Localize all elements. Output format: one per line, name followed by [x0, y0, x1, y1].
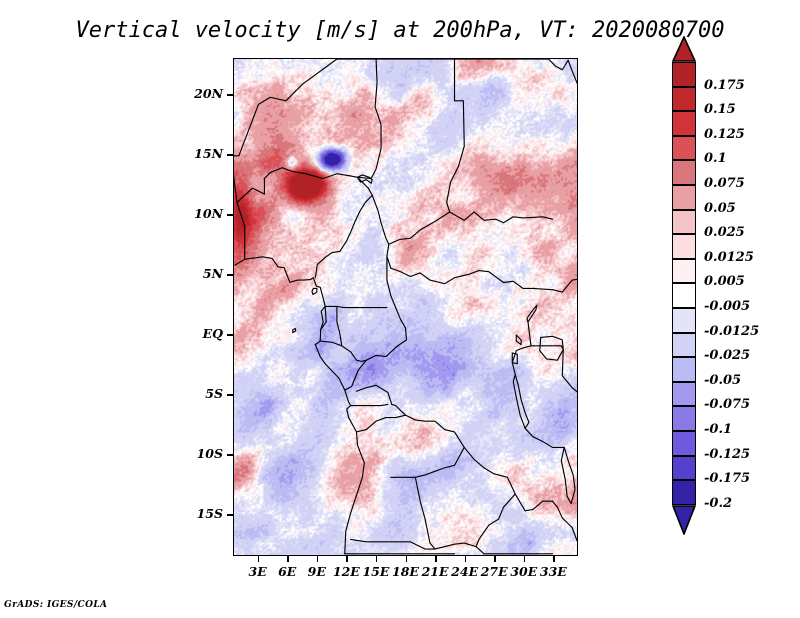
lat-tick-mark: [227, 154, 233, 156]
lat-tick-label: 10S: [183, 446, 223, 461]
lat-tick-mark: [227, 214, 233, 216]
lon-tick-mark: [553, 556, 555, 562]
lon-tick-mark: [346, 556, 348, 562]
lat-tick-label: 20N: [183, 86, 223, 101]
colorbar-tick-label: -0.2: [704, 496, 732, 511]
colorbar-swatch: [672, 283, 696, 308]
lon-tick-mark: [317, 556, 319, 562]
map-plot-area: [233, 58, 578, 556]
lon-tick-mark: [258, 556, 260, 562]
colorbar-tick-label: 0.1: [704, 151, 727, 166]
colorbar-swatch: [672, 480, 696, 505]
colorbar-swatch: [672, 431, 696, 456]
lon-tick-mark: [494, 556, 496, 562]
colorbar-min-arrow: [672, 505, 696, 535]
colorbar-tick-label: -0.1: [704, 422, 732, 437]
lon-tick-label: 33E: [533, 564, 573, 579]
colorbar-max-arrow: [672, 36, 696, 62]
colorbar-swatch: [672, 259, 696, 284]
colorbar-swatch: [672, 357, 696, 382]
colorbar-tick-label: 0.005: [704, 274, 745, 289]
lat-tick-label: 5N: [183, 266, 223, 281]
colorbar-swatch: [672, 382, 696, 407]
colorbar-swatch: [672, 406, 696, 431]
colorbar-tick-label: 0.175: [704, 78, 745, 93]
lat-tick-label: 10N: [183, 206, 223, 221]
lat-tick-mark: [227, 514, 233, 516]
colorbar-swatch: [672, 136, 696, 161]
lon-tick-mark: [406, 556, 408, 562]
colorbar-swatch: [672, 234, 696, 259]
colorbar-tick-label: -0.0125: [704, 324, 759, 339]
colorbar-swatch: [672, 210, 696, 235]
colorbar-swatch: [672, 87, 696, 112]
colorbar-swatch: [672, 160, 696, 185]
credit-label: GrADS: IGES/COLA: [4, 600, 107, 610]
colorbar-tick-label: 0.075: [704, 176, 745, 191]
colorbar-swatch: [672, 62, 696, 87]
lat-tick-mark: [227, 274, 233, 276]
colorbar-tick-label: -0.005: [704, 299, 750, 314]
colorbar-swatch: [672, 111, 696, 136]
colorbar-swatch: [672, 185, 696, 210]
country-borders-overlay: [234, 59, 577, 555]
lon-tick-mark: [465, 556, 467, 562]
colorbar-swatch: [672, 456, 696, 481]
colorbar-tick-label: -0.05: [704, 373, 741, 388]
lat-tick-label: 15S: [183, 506, 223, 521]
lat-tick-mark: [227, 394, 233, 396]
colorbar-tick-label: -0.175: [704, 471, 750, 486]
lon-tick-mark: [287, 556, 289, 562]
lat-tick-mark: [227, 454, 233, 456]
colorbar-swatch: [672, 333, 696, 358]
lon-tick-mark: [376, 556, 378, 562]
colorbar-tick-label: 0.0125: [704, 250, 754, 265]
lat-tick-label: 5S: [183, 386, 223, 401]
lat-tick-mark: [227, 334, 233, 336]
colorbar-tick-label: -0.075: [704, 397, 750, 412]
lat-tick-label: EQ: [183, 326, 223, 341]
colorbar-tick-label: 0.15: [704, 102, 736, 117]
lat-tick-label: 15N: [183, 146, 223, 161]
colorbar-swatch: [672, 308, 696, 333]
colorbar-tick-label: -0.125: [704, 447, 750, 462]
lon-tick-mark: [524, 556, 526, 562]
colorbar-tick-label: -0.025: [704, 348, 750, 363]
lon-tick-mark: [435, 556, 437, 562]
lat-tick-mark: [227, 94, 233, 96]
colorbar-tick-label: 0.05: [704, 201, 736, 216]
colorbar-tick-label: 0.125: [704, 127, 745, 142]
colorbar-tick-label: 0.025: [704, 225, 745, 240]
